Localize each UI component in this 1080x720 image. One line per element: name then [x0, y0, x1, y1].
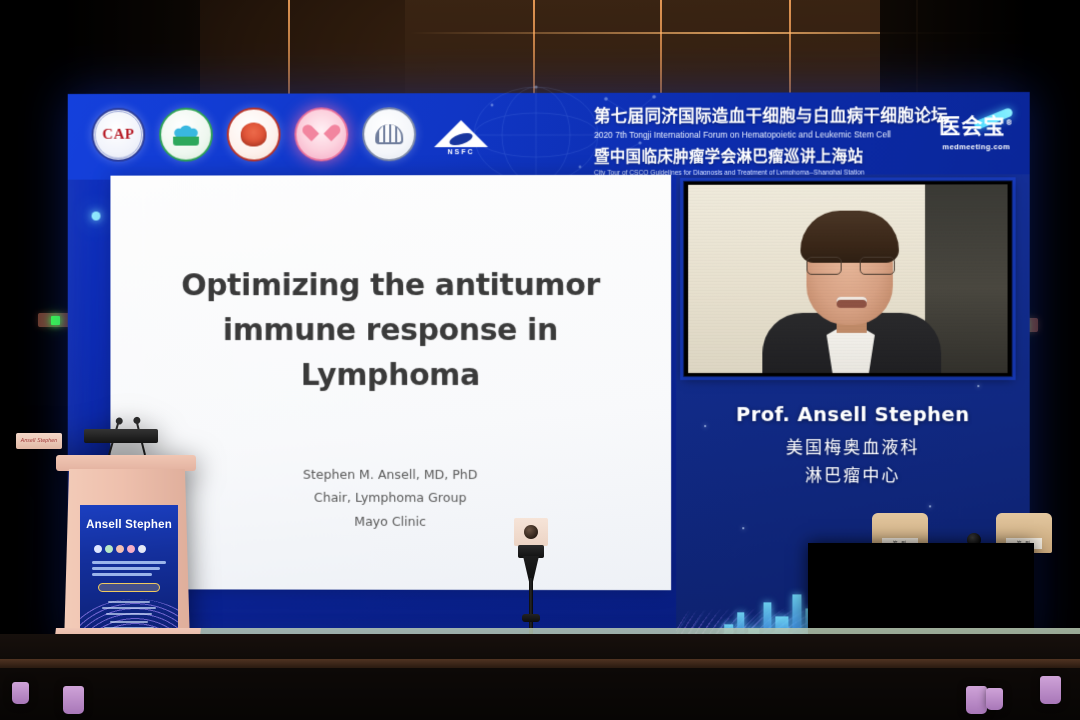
emblem-icon	[241, 123, 267, 147]
sponsor-logo: 医会宝® medmeeting.com	[939, 110, 1013, 151]
speaker-name: Prof. Ansell Stephen	[676, 403, 1030, 426]
lectern-sign-name: Ansell Stephen	[80, 519, 178, 531]
camera-head	[514, 518, 548, 546]
sponsor-logo-cn: 医会宝	[939, 114, 1005, 138]
speaker-affiliation-line-1: 美国梅奥血液科	[676, 433, 1030, 458]
lectern-body: Ansell Stephen	[64, 469, 190, 645]
red-emblem-logo	[227, 108, 281, 162]
byline-line-2: Chair, Lymphoma Group	[140, 486, 641, 510]
slide-title: Optimizing the antitumor immune response…	[140, 263, 641, 398]
nsfc-triangle-logo: NSFC	[430, 112, 492, 156]
cup	[63, 686, 84, 714]
camera-lens-icon	[524, 525, 538, 539]
banner-title-cn: 第七届同济国际造血干细胞与白血病干细胞论坛	[594, 102, 965, 127]
registered-mark: ®	[1006, 119, 1014, 127]
cup	[986, 688, 1003, 710]
lectern-sign: Ansell Stephen	[80, 505, 178, 645]
tripod-knob	[522, 614, 540, 622]
auditorium-scene: CAP NSFC	[0, 0, 1080, 720]
video-scanlines	[688, 184, 1007, 373]
cup	[966, 686, 987, 714]
seal-icon	[375, 124, 403, 144]
event-banner: CAP NSFC	[68, 92, 1030, 180]
banner-title-en: 2020 7th Tongji International Forum on H…	[594, 129, 965, 140]
byline-line-1: Stephen M. Ansell, MD, PhD	[140, 463, 641, 487]
presentation-slide: Optimizing the antitumor immune response…	[110, 175, 671, 590]
byline-line-3: Mayo Clinic	[140, 509, 641, 533]
foreground-table-rail	[0, 659, 1080, 668]
heart-icon	[311, 125, 331, 144]
foreground-table-front	[0, 634, 1080, 720]
speaker-affiliation-line-2: 淋巴瘤中心	[676, 461, 1030, 486]
speaker-video-feed	[683, 180, 1012, 377]
sponsor-logo-url: medmeeting.com	[939, 142, 1013, 151]
cup	[1040, 676, 1061, 704]
green-institute-logo	[159, 108, 213, 162]
pink-heart-logo	[294, 107, 348, 161]
mountain-icon	[434, 120, 488, 147]
white-seal-logo	[362, 107, 416, 161]
organizer-logo-row: CAP NSFC	[92, 107, 492, 162]
cup	[12, 682, 29, 704]
banner-subtitle-cn: 暨中国临床肿瘤学会淋巴瘤巡讲上海站	[594, 144, 965, 167]
lectern-mic-base	[84, 429, 158, 443]
lectern-name-plate: Ansell Stephen	[16, 433, 62, 449]
lectern-top	[56, 455, 196, 471]
exit-icon	[51, 316, 60, 325]
screen-light-dot	[92, 212, 101, 221]
cap-logo: CAP	[92, 108, 146, 162]
lectern-sign-logos	[94, 545, 146, 553]
plant-icon	[173, 124, 199, 146]
nsfc-logo-text: NSFC	[448, 149, 475, 156]
banner-text-block: 第七届同济国际造血干细胞与白血病干细胞论坛 2020 7th Tongji In…	[594, 102, 965, 177]
slide-byline: Stephen M. Ansell, MD, PhD Chair, Lympho…	[140, 463, 641, 533]
lectern-sign-pill	[98, 583, 160, 592]
